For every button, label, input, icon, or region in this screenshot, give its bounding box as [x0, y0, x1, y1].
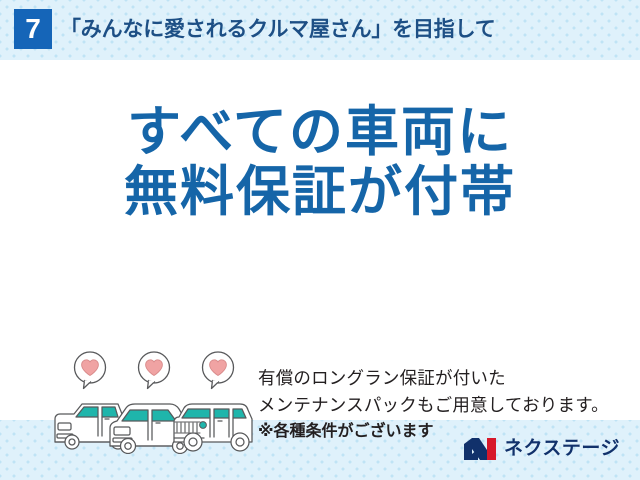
- headline-line-1: すべての車両に: [0, 102, 640, 162]
- body-copy-line-1: 有償のロングラン保証が付いた: [258, 365, 630, 392]
- banner-footer: ネクステージ: [0, 420, 640, 480]
- banner-header: 7 「みんなに愛されるクルマ屋さん」を目指して: [0, 0, 640, 60]
- body-copy-line-2: メンテナンスパックもご用意しております。: [258, 392, 630, 419]
- brand-name: ネクステージ: [504, 436, 620, 462]
- nextage-n-logo-icon: [463, 436, 497, 462]
- headline: すべての車両に 無料保証が付帯: [0, 102, 640, 222]
- heart-bubbles-group: [52, 350, 252, 396]
- headline-line-2: 無料保証が付帯: [0, 162, 640, 222]
- header-title: 「みんなに愛されるクルマ屋さん」を目指して: [60, 12, 496, 48]
- speech-bubble-icon: [70, 350, 110, 390]
- speech-bubble-icon: [134, 350, 174, 390]
- warranty-banner: 7 「みんなに愛されるクルマ屋さん」を目指して すべての車両に 無料保証が付帯: [0, 0, 640, 480]
- brand-lockup: ネクステージ: [463, 434, 620, 464]
- speech-bubble-icon: [198, 350, 238, 390]
- content-card: すべての車両に 無料保証が付帯: [0, 60, 640, 420]
- step-number-badge: 7: [14, 9, 52, 49]
